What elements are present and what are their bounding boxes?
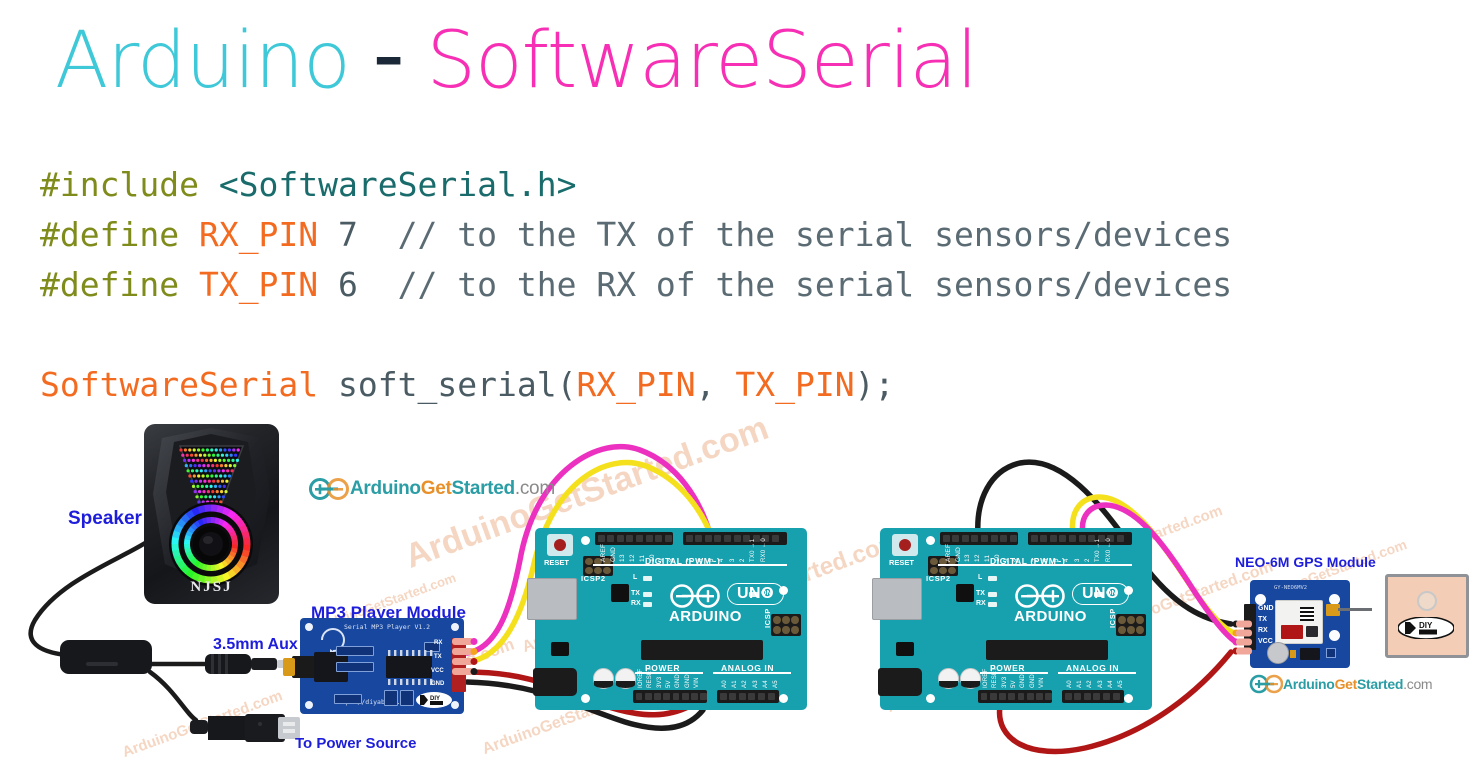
code-token: TX_PIN — [199, 265, 318, 304]
mp3-pin-label-gnd: GND — [431, 681, 444, 687]
neo6m-gps-module: GY-NEO6MV2 GND TX RX VCC — [1250, 580, 1350, 668]
pin-label: 5V — [1011, 680, 1017, 688]
crystal — [956, 584, 974, 602]
uno-badge: UNO — [1072, 583, 1129, 605]
arduinogetstarted-logo-left: ArduinoGetStarted.com — [308, 476, 555, 502]
pin-label: 8 — [1013, 558, 1020, 562]
code-token: // to the RX of the serial sensors/devic… — [398, 265, 1232, 304]
pin-label: 4 — [1064, 558, 1070, 562]
antenna-feed-point — [1417, 591, 1437, 611]
code-token: TX_PIN — [735, 365, 854, 404]
digital-header-right — [1028, 532, 1132, 545]
led-rx-label: RX — [631, 600, 641, 607]
pin-label: A2 — [742, 680, 748, 688]
icsp-header — [771, 614, 801, 636]
pin-label: 5 — [709, 558, 715, 562]
qr-code — [1300, 607, 1314, 621]
pin-label: A3 — [753, 680, 759, 688]
arduinogetstarted-logo-right: ArduinoGetStarted.com — [1249, 673, 1432, 695]
pin-label: 12 — [974, 554, 981, 562]
icsp2-header — [928, 556, 958, 576]
pin-label: 4 — [719, 558, 725, 562]
mount-hole — [581, 694, 590, 703]
pin-label: IOREF — [983, 669, 989, 688]
pin-label: 6 — [698, 558, 704, 562]
volume-control-box — [60, 640, 152, 674]
ic-pins — [382, 650, 438, 686]
code-token: RX_PIN — [576, 365, 695, 404]
arduino-logo-icon — [308, 476, 350, 502]
arduino-logo-icon — [1249, 673, 1283, 695]
label-speaker: Speaker — [68, 508, 142, 530]
pad-group — [336, 646, 374, 656]
speaker-graphic — [144, 424, 279, 604]
code-line: #define RX_PIN 7 // to the TX of the ser… — [40, 210, 1232, 260]
led-rx — [643, 602, 652, 607]
mount-hole — [1255, 594, 1266, 605]
arduino-wordmark: ARDUINO — [669, 608, 742, 625]
mount-hole — [926, 536, 935, 545]
antenna-lead — [1338, 608, 1372, 611]
gps-dupont-connectors — [1232, 618, 1258, 666]
pin-label: A0 — [1067, 680, 1073, 688]
code-token: SoftwareSerial — [40, 365, 318, 404]
usb-port — [872, 578, 922, 620]
pin-label: 5 — [1054, 558, 1060, 562]
label-power-source: To Power Source — [295, 735, 416, 752]
mount-hole — [451, 701, 459, 709]
neo6m-chip — [1275, 600, 1323, 644]
code-line: #define TX_PIN 6 // to the RX of the ser… — [40, 260, 1232, 310]
analog-section-label: ANALOG IN — [721, 663, 774, 673]
logo-arduino: Arduino — [350, 478, 421, 500]
pin-label: 9 — [1003, 558, 1010, 562]
icsp-header — [1116, 614, 1146, 636]
digital-header-right — [683, 532, 787, 545]
led-l — [988, 576, 997, 581]
pad-group — [336, 662, 374, 672]
eeprom-ic — [1300, 648, 1320, 660]
usb-plug — [190, 708, 302, 752]
title-softwareserial: SoftwareSerial — [426, 16, 977, 106]
icsp2-header — [583, 556, 613, 576]
code-token: <SoftwareSerial.h> — [219, 165, 577, 204]
speaker: NJSJ — [144, 424, 279, 604]
mp3-dupont-connectors — [452, 636, 486, 696]
icsp2-label: ICSP2 — [926, 574, 951, 583]
code-token: ); — [855, 365, 895, 404]
led-l — [643, 576, 652, 581]
pin-label: VIN — [1039, 677, 1045, 688]
speaker-brand: NJSJ — [144, 579, 279, 596]
pin-label: A3 — [1098, 680, 1104, 688]
pin-label: 3V3 — [1002, 677, 1008, 688]
pin-label: 2 — [740, 558, 746, 562]
label-aux: 3.5mm Aux — [213, 636, 298, 654]
pin-label: 7 — [688, 558, 694, 562]
analog-section-label: ANALOG IN — [1066, 663, 1119, 673]
arduino-infinity-logo — [1014, 584, 1066, 608]
pin-label: GND — [685, 674, 691, 688]
pin-label: AREF — [945, 544, 952, 562]
logo-started: Started — [452, 478, 515, 500]
power-jack — [533, 668, 577, 696]
label-gps-module: NEO-6M GPS Module — [1235, 554, 1376, 570]
gps-ceramic-antenna: DIY — [1385, 574, 1469, 658]
code-token: // to the TX of the serial sensors/devic… — [398, 215, 1232, 254]
pad-group — [384, 690, 398, 706]
pin-label: TX0 →1 — [750, 539, 756, 562]
mount-hole — [779, 694, 788, 703]
mount-hole — [926, 694, 935, 703]
pin-label: A2 — [1087, 680, 1093, 688]
pin-label: GND — [955, 547, 962, 562]
pin-label: A1 — [732, 680, 738, 688]
pin-label: 11 — [984, 555, 991, 562]
pin-label: A0 — [722, 680, 728, 688]
reset-label: RESET — [889, 558, 914, 567]
gps-pin-label-vcc: VCC — [1258, 638, 1273, 645]
mp3-player-module: Serial MP3 Player V1.2 https://diyables.… — [300, 618, 464, 714]
pin-label: GND — [675, 674, 681, 688]
code-token: #define — [40, 265, 199, 304]
led-rx-label: RX — [976, 600, 986, 607]
pin-label: RESET — [647, 667, 653, 688]
pin-label: 6 — [1043, 558, 1049, 562]
pad — [1326, 648, 1336, 658]
diyables-logo: DIY — [1398, 617, 1454, 639]
led-tx-label: TX — [631, 590, 640, 597]
pin-label: A4 — [763, 680, 769, 688]
gps-silk: GY-NEO6MV2 — [1274, 585, 1307, 591]
pin-label: RX0 ←0 — [1106, 538, 1112, 562]
pad-group — [334, 694, 362, 704]
code-token: 7 — [318, 215, 397, 254]
analog-header — [1062, 690, 1124, 703]
svg-text:DIY: DIY — [1419, 621, 1433, 630]
pin-label: A1 — [1077, 680, 1083, 688]
mount-hole — [451, 623, 459, 631]
voltage-regulator — [896, 642, 914, 656]
pin-label: 13 — [619, 554, 626, 562]
led-tx-label: TX — [976, 590, 985, 597]
logo-started: Started — [1357, 676, 1403, 692]
pin-label: A5 — [1118, 680, 1124, 688]
pin-label: 5V — [666, 680, 672, 688]
icsp2-label: ICSP2 — [581, 574, 606, 583]
mp3-pin-label-tx: TX — [434, 654, 442, 660]
pin-label: AREF — [600, 544, 607, 562]
mount-hole — [1124, 694, 1133, 703]
mount-hole — [305, 701, 313, 709]
code-line — [40, 310, 1232, 360]
pin-label: VIN — [694, 677, 700, 688]
pin-label: A4 — [1108, 680, 1114, 688]
led-l-label: L — [978, 574, 982, 581]
led-rx — [988, 602, 997, 607]
pin-label: GND — [1020, 674, 1026, 688]
code-block: #include <SoftwareSerial.h>#define RX_PI… — [40, 160, 1232, 410]
title-arduino: Arduino — [55, 16, 350, 106]
pin-label: 11 — [639, 555, 646, 562]
mount-hole — [1329, 630, 1340, 641]
mp3-pin-label-rx: RX — [434, 640, 442, 646]
pin-label: A5 — [773, 680, 779, 688]
pin-label: 10 — [649, 554, 656, 562]
led-l-label: L — [633, 574, 637, 581]
power-header — [978, 690, 1052, 703]
pin-label: 7 — [1033, 558, 1039, 562]
usb-port — [527, 578, 577, 620]
pad-group — [400, 690, 414, 706]
analog-header — [717, 690, 779, 703]
mount-hole — [305, 623, 313, 631]
control-slider — [86, 662, 118, 666]
logo-dotcom: .com — [1403, 676, 1432, 692]
logo-dotcom: .com — [515, 478, 555, 500]
pin-label: 12 — [629, 554, 636, 562]
mp3-silk-title: Serial MP3 Player V1.2 — [344, 623, 430, 631]
pin-label: 13 — [964, 554, 971, 562]
arduino-uno-board-right: RESET ICSP2 L TX RX ON UNO ARDUINO — [880, 528, 1152, 710]
code-token: 6 — [318, 265, 397, 304]
pin-label: IOREF — [638, 669, 644, 688]
icsp-label: ICSP — [763, 608, 772, 628]
pin-label: 3 — [730, 558, 736, 562]
code-token: #define — [40, 215, 199, 254]
title-dash: – — [374, 22, 403, 92]
pin-label: 9 — [658, 558, 665, 562]
reset-button[interactable] — [547, 534, 573, 556]
code-token: #include — [40, 165, 219, 204]
logo-arduino: Arduino — [1283, 676, 1335, 692]
pin-label: RESET — [992, 667, 998, 688]
code-token: , — [696, 365, 736, 404]
mount-hole — [581, 536, 590, 545]
pin-label: GND — [610, 547, 617, 562]
pin-label: GND — [1030, 674, 1036, 688]
pin-label: 3V3 — [657, 677, 663, 688]
chip-label — [1281, 625, 1303, 639]
code-token: soft_serial( — [318, 365, 576, 404]
led-tx — [643, 592, 652, 597]
pin-label: 8 — [668, 558, 675, 562]
mp3-jack-barrel — [283, 658, 295, 676]
chip-ic — [1306, 626, 1318, 637]
gps-pin-label-tx: TX — [1258, 616, 1267, 623]
page-title: Arduino – SoftwareSerial — [55, 22, 977, 100]
arduino-wordmark: ARDUINO — [1014, 608, 1087, 625]
voltage-regulator — [551, 642, 569, 656]
microcontroller — [641, 640, 763, 660]
code-token: RX_PIN — [199, 215, 318, 254]
icsp-label: ICSP — [1108, 608, 1117, 628]
arduino-uno-board-left: RESET ICSP2 L TX RX ON UNO ARDUINO — [535, 528, 807, 710]
diyables-logo: DIY — [416, 692, 452, 708]
code-line: #include <SoftwareSerial.h> — [40, 160, 1232, 210]
capacitor — [593, 668, 614, 689]
arduino-infinity-logo — [669, 584, 721, 608]
power-jack — [878, 668, 922, 696]
pin-label: 10 — [994, 554, 1001, 562]
code-line: SoftwareSerial soft_serial(RX_PIN, TX_PI… — [40, 360, 1232, 410]
power-header — [633, 690, 707, 703]
pin-label: TX0 →1 — [1095, 539, 1101, 562]
capacitor — [960, 668, 981, 689]
logo-get: Get — [1335, 676, 1357, 692]
reset-label: RESET — [544, 558, 569, 567]
reset-button[interactable] — [892, 534, 918, 556]
speaker-cable — [31, 540, 150, 655]
pin-label: RX0 ←0 — [761, 538, 767, 562]
mp3-pin-label-vcc: VCC — [431, 668, 444, 674]
microcontroller — [986, 640, 1108, 660]
diagram-canvas: Arduino – SoftwareSerial #include <Softw… — [0, 0, 1479, 770]
backup-battery — [1267, 642, 1289, 664]
pin-label: 3 — [1075, 558, 1081, 562]
led-tx — [988, 592, 997, 597]
gps-pin-label-rx: RX — [1258, 627, 1268, 634]
capacitor — [938, 668, 959, 689]
crystal — [611, 584, 629, 602]
gps-pin-label-gnd: GND — [1258, 605, 1274, 612]
capacitor — [615, 668, 636, 689]
uno-badge: UNO — [727, 583, 784, 605]
pin-label: 2 — [1085, 558, 1091, 562]
pad — [1290, 650, 1296, 658]
logo-get: Get — [421, 478, 452, 500]
